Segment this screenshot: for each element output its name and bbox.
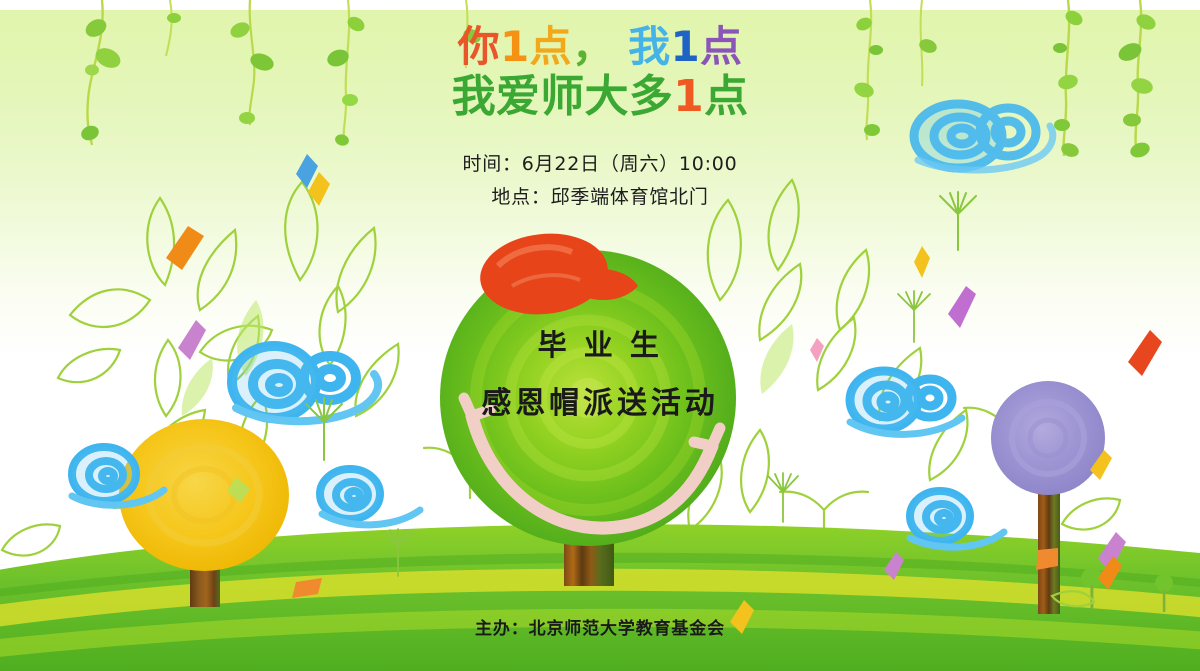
headline-char: 1	[500, 24, 530, 69]
tree-message-line-1: 毕 业 生	[0, 322, 1200, 364]
headline-char: 点	[700, 24, 742, 69]
confetti-diamond-icon	[1034, 548, 1062, 572]
poster-canvas: 你1点，我1点 我爱师大多1点 时间：6月22日（周六）10:00 地点：邱季端…	[0, 0, 1200, 671]
event-place: 地点：邱季端体育馆北门	[0, 181, 1200, 214]
event-time: 时间：6月22日（周六）10:00	[0, 148, 1200, 181]
event-details: 时间：6月22日（周六）10:00 地点：邱季端体育馆北门	[0, 148, 1200, 215]
snail-icon	[62, 440, 172, 520]
dandelion-seed-icon	[760, 472, 806, 528]
headline-char: 1	[673, 73, 704, 121]
headline-char: ，	[572, 24, 614, 69]
headline: 你1点，我1点 我爱师大多1点	[0, 24, 1200, 121]
organizer-footer: 主办：北京师范大学教育基金会	[0, 614, 1200, 639]
confetti-diamond-icon	[912, 246, 932, 278]
confetti-diamond-icon	[884, 552, 906, 580]
headline-char: 点	[704, 73, 748, 121]
snail-icon	[900, 482, 1010, 562]
headline-line-2: 我爱师大多1点	[0, 73, 1200, 121]
headline-char: 1	[670, 24, 700, 69]
tree-message: 毕 业 生 感恩帽派送活动	[0, 322, 1200, 422]
tree-message-line-2: 感恩帽派送活动	[0, 378, 1200, 422]
confetti-diamond-icon	[166, 226, 206, 270]
headline-char: 点	[530, 24, 572, 69]
headline-char: 我爱师大多	[452, 73, 674, 121]
headline-char: 你	[458, 24, 500, 69]
headline-char: 我	[628, 24, 670, 69]
dandelion-seed-icon	[376, 528, 420, 582]
confetti-diamond-icon	[1098, 556, 1124, 590]
confetti-diamond-icon	[292, 578, 326, 598]
headline-line-1: 你1点，我1点	[0, 24, 1200, 69]
tree-icon	[1152, 572, 1176, 614]
confetti-diamond-icon	[1090, 450, 1114, 480]
